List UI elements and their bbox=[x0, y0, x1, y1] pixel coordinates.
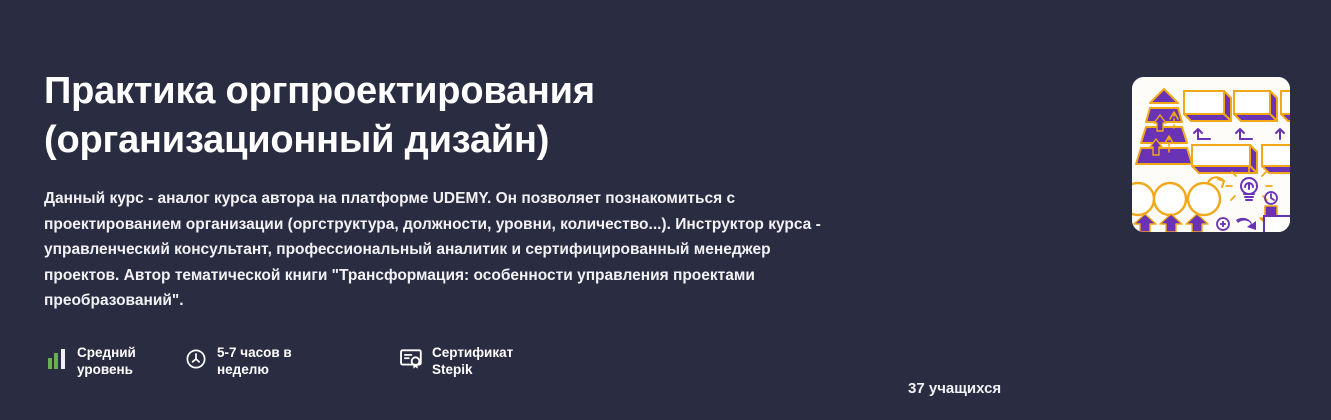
clock-icon bbox=[184, 346, 208, 372]
course-title: Практика оргпроектирования (организацион… bbox=[44, 67, 864, 165]
learners-count: 37 учащихся bbox=[908, 379, 1001, 399]
course-meta-row: Средний уровень 5-7 часов в неделю bbox=[44, 344, 599, 378]
meta-item-certificate: Сертификат Stepik bbox=[399, 344, 599, 378]
meta-item-certificate-label: Сертификат Stepik bbox=[432, 344, 537, 378]
course-hero-banner: Практика оргпроектирования (организацион… bbox=[0, 0, 1331, 420]
meta-item-workload: 5-7 часов в неделю bbox=[184, 344, 399, 378]
certificate-icon bbox=[399, 346, 423, 372]
meta-item-workload-label: 5-7 часов в неделю bbox=[217, 344, 322, 378]
course-info-column: Практика оргпроектирования (организацион… bbox=[44, 0, 864, 420]
meta-item-level: Средний уровень bbox=[44, 344, 184, 378]
bar-chart-icon bbox=[44, 346, 68, 372]
course-cover-image bbox=[1132, 77, 1290, 232]
course-summary: Данный курс - аналог курса автора на пла… bbox=[44, 186, 844, 314]
meta-item-level-label: Средний уровень bbox=[77, 344, 182, 378]
